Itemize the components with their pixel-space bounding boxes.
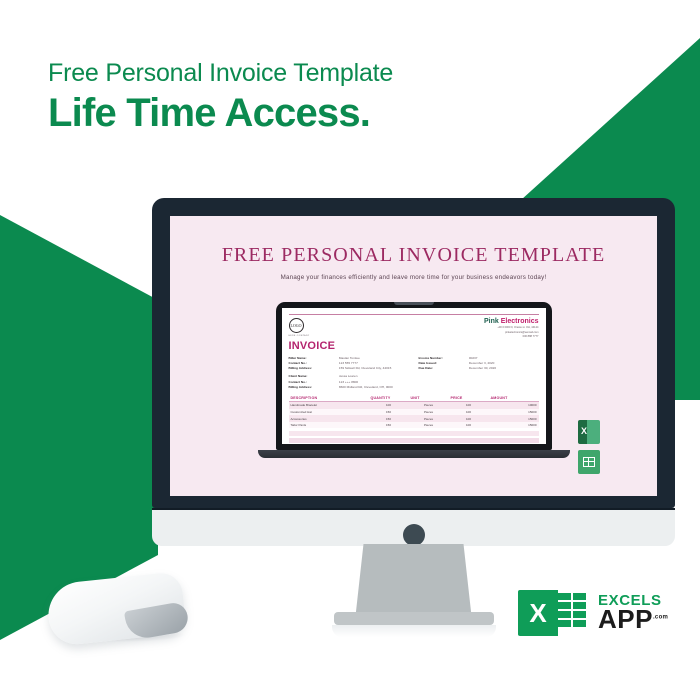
table-row: Tailor Pants 150 Pieces 100 15000	[289, 422, 539, 429]
invoice-heading: INVOICE	[289, 340, 539, 352]
grid-cell	[558, 611, 571, 618]
meta-row: Contact No.: 123 +++ 8800	[289, 380, 409, 384]
table-row: Customized Hat 150 Pieces 100 15000	[289, 409, 539, 416]
table-row: Handmade Bracelet 100 Pieces 100 10000	[289, 402, 539, 409]
cell-description: Customized Hat	[289, 409, 369, 416]
table-row: Accessories 150 Pieces 100 15000	[289, 415, 539, 422]
cell-quantity: 150	[369, 409, 409, 416]
cell-unit: Pieces	[409, 409, 449, 416]
column-header-amount: AMOUNT	[489, 395, 539, 402]
brand-line-app: APP.com	[598, 608, 668, 632]
grid-cell	[573, 593, 586, 600]
company-address: +00 0 0000 0, Oreste st. OH, 44124	[484, 326, 539, 329]
meta-label: Biller Name:	[289, 356, 339, 360]
cell-price: 100	[449, 422, 489, 429]
file-format-icons: X	[578, 420, 600, 480]
cell-amount: 10000	[489, 402, 539, 409]
computer-mouse	[48, 578, 184, 640]
meta-label: Billing Address:	[289, 366, 339, 370]
meta-row: Client Name: Jessa Loaren	[289, 374, 409, 378]
column-header-description: DESCRIPTION	[289, 395, 369, 402]
excel-file-icon[interactable]: X	[578, 420, 600, 444]
meta-value: 00237	[469, 356, 539, 360]
grid-cell	[558, 593, 571, 600]
laptop-lid: LOGO HERE COMPANY Pink Electronics	[276, 302, 552, 450]
meta-row: Date Issued: December 3, 2020	[419, 361, 539, 365]
excel-x-letter: X	[518, 598, 558, 629]
company-email: pinkelectronics@wemail.com	[484, 331, 539, 334]
excel-logo-icon: X	[518, 590, 592, 636]
meta-row: Due Date: December 30, 2020	[419, 366, 539, 370]
sheets-file-icon[interactable]	[578, 450, 600, 474]
cell-amount: 15000	[489, 422, 539, 429]
column-header-price: PRICE	[449, 395, 489, 402]
brand-app-text: APP	[598, 604, 653, 634]
company-name-part2: Electronics	[501, 318, 539, 325]
meta-value: 159 Sidwell Rd, Cleveland City, 44015	[339, 366, 409, 370]
meta-row: Biller Name: Maulan Tomlee	[289, 356, 409, 360]
meta-label: Due Date:	[419, 366, 469, 370]
invoice-meta-column: Invoice Number: 00237 Date Issued: Decem…	[419, 356, 539, 390]
template-title: FREE PERSONAL INVOICE TEMPLATE	[170, 244, 657, 267]
laptop-notch	[394, 302, 434, 305]
excel-grid-icon	[558, 593, 588, 633]
logo-badge-subtext: HERE COMPANY	[289, 335, 310, 337]
monitor-stand-base	[334, 612, 494, 625]
cell-amount: 15000	[489, 409, 539, 416]
excel-x-block: X	[518, 590, 558, 636]
monitor-stand-shadow	[332, 625, 496, 637]
grid-cell	[573, 620, 586, 627]
meta-label: Client Name:	[289, 374, 339, 378]
meta-value: 123 +++ 8800	[339, 380, 409, 384]
meta-label: Date Issued:	[419, 361, 469, 365]
meta-label: Contact No.:	[289, 361, 339, 365]
invoice-total-bar	[289, 438, 539, 443]
company-name: Pink Electronics	[484, 318, 539, 325]
invoice-header: LOGO HERE COMPANY Pink Electronics	[289, 315, 539, 338]
template-subtitle: Manage your finances efficiently and lea…	[170, 274, 657, 281]
meta-row: Billing Address: 8600 Midland Rd, Clevel…	[289, 385, 409, 389]
cell-description: Handmade Bracelet	[289, 402, 369, 409]
excel-x-glyph: X	[581, 426, 587, 436]
logo-badge-text: LOGO	[290, 324, 301, 328]
invoice-subtotal-bar	[289, 431, 539, 436]
meta-value: 123 555 7777	[339, 361, 409, 365]
meta-value: Maulan Tomlee	[339, 356, 409, 360]
cell-amount: 15000	[489, 415, 539, 422]
table-header-row: DESCRIPTION QUANTITY UNIT PRICE AMOUNT	[289, 395, 539, 402]
grid-cell	[558, 620, 571, 627]
laptop-mockup: LOGO HERE COMPANY Pink Electronics	[276, 302, 552, 458]
grid-cell	[558, 602, 571, 609]
headline-eyebrow: Free Personal Invoice Template	[48, 60, 393, 88]
cell-quantity: 150	[369, 415, 409, 422]
meta-value: Jessa Loaren	[339, 374, 409, 378]
meta-value: December 30, 2020	[469, 366, 539, 370]
grid-cell	[573, 602, 586, 609]
invoice-logo: LOGO HERE COMPANY	[289, 318, 310, 337]
monitor-chin	[152, 508, 675, 546]
cell-unit: Pieces	[409, 415, 449, 422]
headline-block: Free Personal Invoice Template Life Time…	[48, 60, 393, 136]
meta-label: Invoice Number:	[419, 356, 469, 360]
company-phone: 000 888 7777	[484, 335, 539, 338]
laptop-display: LOGO HERE COMPANY Pink Electronics	[282, 308, 546, 444]
monitor-stand	[356, 544, 472, 616]
cell-description: Accessories	[289, 415, 369, 422]
cell-price: 100	[449, 402, 489, 409]
invoice-company-block: Pink Electronics +00 0 0000 0, Oreste st…	[484, 318, 539, 338]
grid-cell	[573, 611, 586, 618]
column-header-quantity: QUANTITY	[369, 395, 409, 402]
logo-badge-icon: LOGO	[289, 318, 304, 333]
page-title: Life Time Access.	[48, 90, 393, 136]
cell-unit: Pieces	[409, 402, 449, 409]
meta-row: Contact No.: 123 555 7777	[289, 361, 409, 365]
cell-price: 100	[449, 415, 489, 422]
invoice-line-items-table: DESCRIPTION QUANTITY UNIT PRICE AMOUNT	[289, 395, 539, 429]
meta-value: 8600 Midland Rd, Cleveland, OH, 0000	[339, 385, 409, 389]
cell-quantity: 150	[369, 422, 409, 429]
meta-row: Invoice Number: 00237	[419, 356, 539, 360]
cell-quantity: 100	[369, 402, 409, 409]
invoice-biller-column: Biller Name: Maulan Tomlee Contact No.: …	[289, 356, 409, 390]
invoice-meta-grid: Biller Name: Maulan Tomlee Contact No.: …	[289, 356, 539, 390]
meta-label: Billing Address:	[289, 385, 339, 389]
brand-dotcom: .com	[653, 614, 668, 620]
sheets-grid-glyph	[583, 457, 595, 467]
poster-canvas: Free Personal Invoice Template Life Time…	[0, 0, 700, 700]
column-header-unit: UNIT	[409, 395, 449, 402]
cell-price: 100	[449, 409, 489, 416]
laptop-base	[258, 450, 570, 458]
invoice-document: LOGO HERE COMPANY Pink Electronics	[282, 308, 546, 444]
company-name-part1: Pink	[484, 318, 499, 325]
cell-unit: Pieces	[409, 422, 449, 429]
monitor-logo-icon	[403, 524, 425, 546]
brand-wordmark: EXCELS APP.com	[598, 594, 668, 632]
meta-row: Billing Address: 159 Sidwell Rd, Clevela…	[289, 366, 409, 370]
cell-description: Tailor Pants	[289, 422, 369, 429]
meta-label: Contact No.:	[289, 380, 339, 384]
meta-value: December 3, 2020	[469, 361, 539, 365]
brand-logo[interactable]: X EXCELS APP.com	[518, 590, 668, 636]
